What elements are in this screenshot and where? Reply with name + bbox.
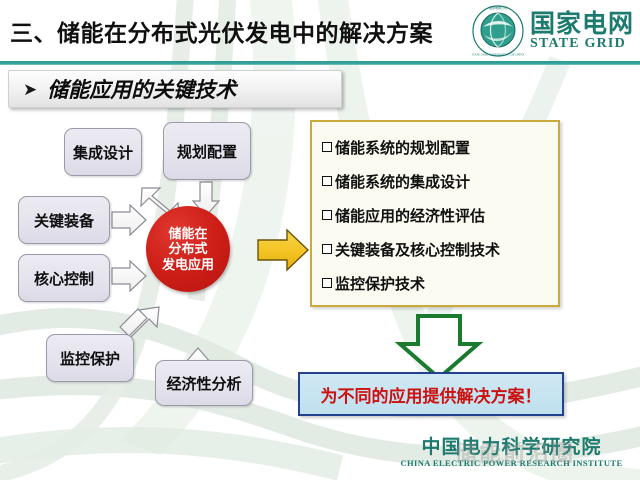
list-item-label: 储能应用的经济性评估 (335, 205, 485, 226)
square-bullet-icon (322, 142, 332, 152)
diagram-box-label: 关键装备 (34, 210, 94, 231)
slide-header: 三、储能在分布式光伏发电中的解决方案 国家电网公司 STATE GRID COR… (0, 0, 640, 62)
square-bullet-icon (322, 210, 332, 220)
square-bullet-icon (322, 176, 332, 186)
list-item-label: 关键装备及核心控制技术 (335, 239, 500, 260)
diagram-box-label: 经济性分析 (166, 373, 241, 394)
list-item: 储能应用的经济性评估 (322, 198, 552, 232)
svg-text:国家电网公司: 国家电网公司 (489, 5, 507, 10)
square-bullet-icon (322, 244, 332, 254)
key-technologies-list: 储能系统的规划配置 储能系统的集成设计 储能应用的经济性评估 关键装备及核心控制… (310, 120, 560, 307)
list-item: 储能系统的集成设计 (322, 164, 552, 198)
list-item-label: 储能系统的规划配置 (335, 137, 470, 158)
list-item: 监控保护技术 (322, 266, 552, 300)
block-arrow-diagonal-icon (120, 307, 159, 337)
diagram-center-node[interactable]: 储能在 分布式 发电应用 (146, 206, 230, 292)
page-title: 三、储能在分布式光伏发电中的解决方案 (10, 14, 433, 48)
diagram-box-label: 集成设计 (73, 142, 133, 163)
center-node-line-3: 发电应用 (162, 257, 214, 272)
square-bullet-icon (322, 278, 332, 288)
header-divider (0, 61, 640, 65)
section-subtitle-text: 储能应用的关键技术 (47, 74, 236, 104)
block-arrow-right-gold-icon (258, 230, 308, 270)
state-grid-globe-logo-icon: 国家电网公司 STATE GRID CORPORATION OF CHINA (472, 5, 524, 57)
list-item-label: 监控保护技术 (335, 273, 425, 294)
diagram-box-planning-config[interactable]: 规划配置 (163, 122, 251, 180)
diagram-box-label: 规划配置 (177, 141, 237, 162)
logo-label-en: STATE GRID (530, 37, 626, 51)
watermark-text: 储能前沿圈 (455, 436, 575, 468)
diagram-box-label: 核心控制 (34, 268, 94, 289)
list-item: 关键装备及核心控制技术 (322, 232, 552, 266)
diagram-box-label: 监控保护 (60, 348, 120, 369)
svg-text:STATE GRID CORPORATION OF CHIN: STATE GRID CORPORATION OF CHINA (472, 53, 524, 57)
list-item: 储能系统的规划配置 (322, 130, 552, 164)
diagram-box-integration-design[interactable]: 集成设计 (64, 128, 142, 176)
slide-canvas: 三、储能在分布式光伏发电中的解决方案 国家电网公司 STATE GRID COR… (0, 0, 640, 480)
conclusion-callout: 为不同的应用提供解决方案！ (298, 372, 564, 416)
section-subtitle-bar: ➤ 储能应用的关键技术 (8, 70, 342, 108)
diagram-box-monitor-protect[interactable]: 监控保护 (46, 334, 134, 382)
block-arrow-right-icon (112, 205, 146, 235)
block-arrow-down-green-icon (400, 316, 478, 378)
center-node-line-2: 分布式 (168, 241, 207, 256)
diagram-box-economic-analysis[interactable]: 经济性分析 (155, 360, 253, 406)
center-node-line-1: 储能在 (168, 226, 207, 241)
conclusion-callout-text: 为不同的应用提供解决方案！ (321, 382, 542, 407)
diagram-box-core-control[interactable]: 核心控制 (18, 254, 110, 302)
arrow-bullet-icon: ➤ (23, 81, 37, 98)
diagram-box-key-equipment[interactable]: 关键装备 (18, 196, 110, 244)
list-item-label: 储能系统的集成设计 (335, 171, 470, 192)
state-grid-logo: 国家电网公司 STATE GRID CORPORATION OF CHINA 国… (472, 4, 634, 58)
logo-label-cn: 国家电网 (530, 12, 634, 37)
block-arrow-right-icon (112, 261, 146, 291)
